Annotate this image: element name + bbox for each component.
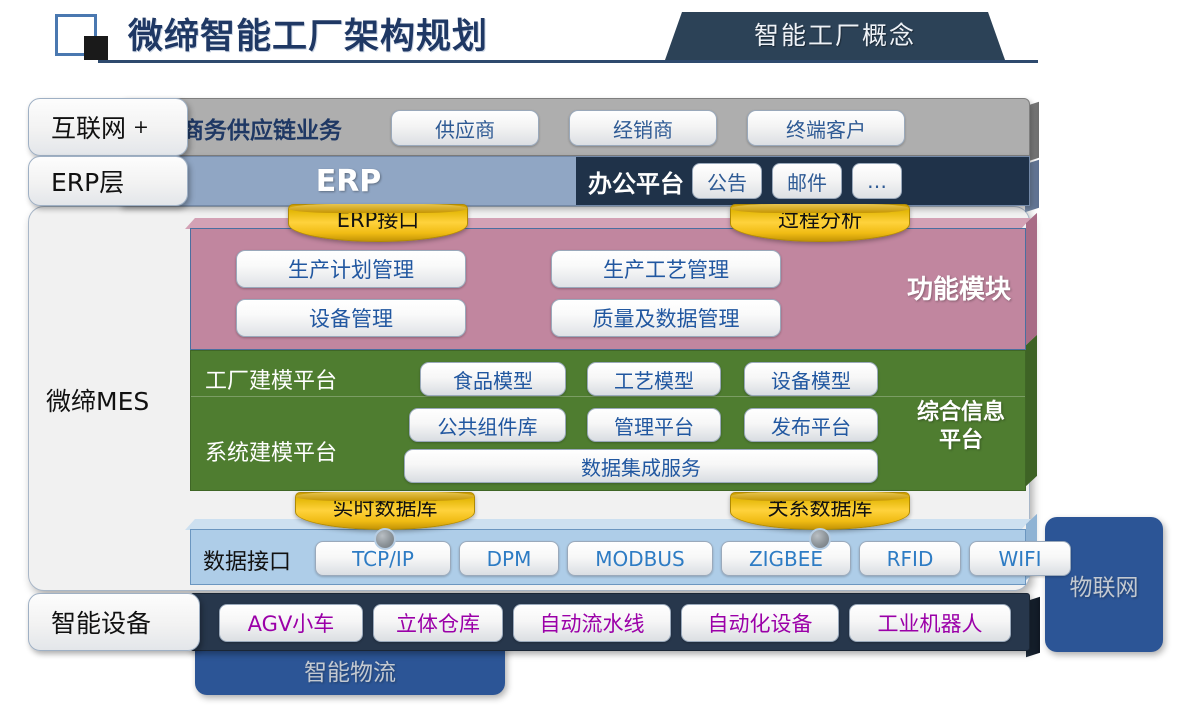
title-divider — [98, 60, 1038, 63]
common-component-library[interactable]: 公共组件库 — [409, 408, 566, 442]
model-food[interactable]: 食品模型 — [420, 362, 566, 396]
smart-device-label-text: 智能设备 — [29, 604, 151, 640]
relational-database-connector: 关系数据库 — [730, 492, 910, 530]
process-analysis-label: 过程分析 — [778, 205, 862, 235]
system-modeling-label: 系统建模平台 — [205, 435, 337, 467]
data-interface-label: 数据接口 — [203, 544, 291, 576]
modeling-platform-block: 工厂建模平台 系统建模平台 综合信息平台 食品模型 工艺模型 设备模型 公共组件… — [190, 350, 1026, 491]
function-module-block: 功能模块 生产计划管理 生产工艺管理 设备管理 质量及数据管理 — [190, 228, 1026, 350]
model-equipment[interactable]: 设备模型 — [744, 362, 878, 396]
device-assembly-line[interactable]: 自动流水线 — [513, 604, 671, 642]
module-production-process[interactable]: 生产工艺管理 — [551, 250, 781, 288]
data-integration-service[interactable]: 数据集成服务 — [404, 449, 878, 483]
smart-logistics-box: 智能物流 — [195, 645, 505, 695]
logo-accent-icon — [84, 36, 108, 60]
function-module-label: 功能模块 — [907, 269, 1011, 306]
office-platform-label: 办公平台 — [576, 164, 692, 199]
module-equipment[interactable]: 设备管理 — [236, 299, 466, 337]
realtime-database-connector: 实时数据库 — [295, 492, 475, 530]
iot-box: 物联网 — [1045, 517, 1163, 652]
relational-database-node-icon — [809, 528, 831, 550]
erp-panel: ERP 办公平台 公告 邮件 … — [120, 156, 1030, 206]
module-production-plan[interactable]: 生产计划管理 — [236, 250, 466, 288]
device-automation[interactable]: 自动化设备 — [681, 604, 839, 642]
announcement-button[interactable]: 公告 — [692, 163, 762, 199]
mes-label: 微缔MES — [46, 382, 149, 418]
device-agv[interactable]: AGV小车 — [219, 604, 363, 642]
smart-device-row-label: 智能设备 — [28, 593, 200, 651]
protocol-wifi[interactable]: WIFI — [969, 541, 1071, 576]
device-industrial-robot[interactable]: 工业机器人 — [849, 604, 1011, 642]
diagram-root: 微缔智能工厂架构规划 智能工厂概念 互联网 + 电子商务供应链业务 供应商 经销… — [0, 0, 1195, 714]
more-button[interactable]: … — [852, 163, 902, 199]
end-customer-button[interactable]: 终端客户 — [747, 110, 905, 146]
smart-device-panel: AGV小车 立体仓库 自动流水线 自动化设备 工业机器人 — [190, 593, 1030, 651]
ecommerce-panel: 电子商务供应链业务 供应商 经销商 终端客户 — [120, 98, 1030, 156]
publish-platform[interactable]: 发布平台 — [744, 408, 878, 442]
concept-banner: 智能工厂概念 — [665, 12, 1005, 60]
concept-banner-label: 智能工厂概念 — [665, 12, 1005, 60]
protocol-zigbee[interactable]: ZIGBEE — [721, 541, 851, 576]
data-interface-block: 数据接口 TCP/IP DPM MODBUS ZIGBEE RFID WIFI — [190, 529, 1026, 585]
erp-interface-connector: ERP接口 — [288, 204, 468, 242]
integrated-info-platform-label: 综合信息平台 — [909, 399, 1013, 455]
realtime-database-node-icon — [374, 528, 396, 550]
internet-row-label: 互联网 + — [28, 98, 188, 156]
relational-database-label: 关系数据库 — [768, 493, 873, 523]
erp-row-label: ERP层 — [28, 156, 188, 206]
protocol-modbus[interactable]: MODBUS — [567, 541, 713, 576]
internet-label-text: 互联网 — [29, 109, 126, 145]
management-platform[interactable]: 管理平台 — [587, 408, 721, 442]
internet-label-plus: + — [126, 116, 149, 138]
page-title: 微缔智能工厂架构规划 — [128, 8, 488, 59]
function-block-side-face — [1026, 213, 1037, 345]
supplier-button[interactable]: 供应商 — [391, 110, 539, 146]
device-warehouse[interactable]: 立体仓库 — [373, 604, 503, 642]
mail-button[interactable]: 邮件 — [772, 163, 842, 199]
protocol-rfid[interactable]: RFID — [859, 541, 961, 576]
model-process[interactable]: 工艺模型 — [587, 362, 721, 396]
process-analysis-connector: 过程分析 — [730, 204, 910, 242]
realtime-database-label: 实时数据库 — [333, 493, 438, 523]
office-platform-panel: 办公平台 公告 邮件 … — [576, 157, 1029, 205]
erp-interface-label: ERP接口 — [337, 205, 420, 235]
erp-title: ERP — [121, 157, 576, 205]
protocol-dpm[interactable]: DPM — [459, 541, 559, 576]
platform-block-side-face — [1026, 335, 1037, 486]
distributor-button[interactable]: 经销商 — [569, 110, 717, 146]
platform-row-divider — [191, 396, 1025, 397]
factory-modeling-label: 工厂建模平台 — [205, 363, 337, 395]
erp-label-text: ERP层 — [29, 163, 124, 199]
module-quality-data[interactable]: 质量及数据管理 — [551, 299, 781, 337]
